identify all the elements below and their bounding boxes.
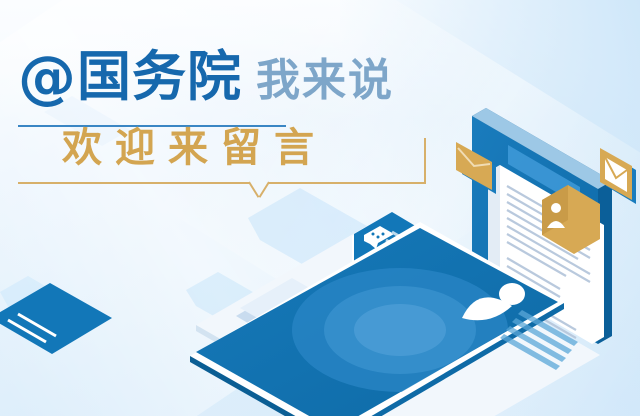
headline-primary: 国务院 <box>77 50 242 104</box>
gold-frame-bottom-left <box>18 182 250 184</box>
gold-frame-right-edge <box>424 138 426 183</box>
tagline-text: 欢迎来留言 <box>62 128 327 168</box>
headline-secondary: 我来说 <box>256 59 394 103</box>
headline-block: @ 国务院 我来说 <box>18 46 438 104</box>
headline-line-1: @ 国务院 我来说 <box>18 46 438 104</box>
banner-root: @ 国务院 我来说 欢迎来留言 <box>0 0 640 416</box>
at-symbol: @ <box>18 48 75 106</box>
gold-frame-bottom-right <box>268 182 426 184</box>
